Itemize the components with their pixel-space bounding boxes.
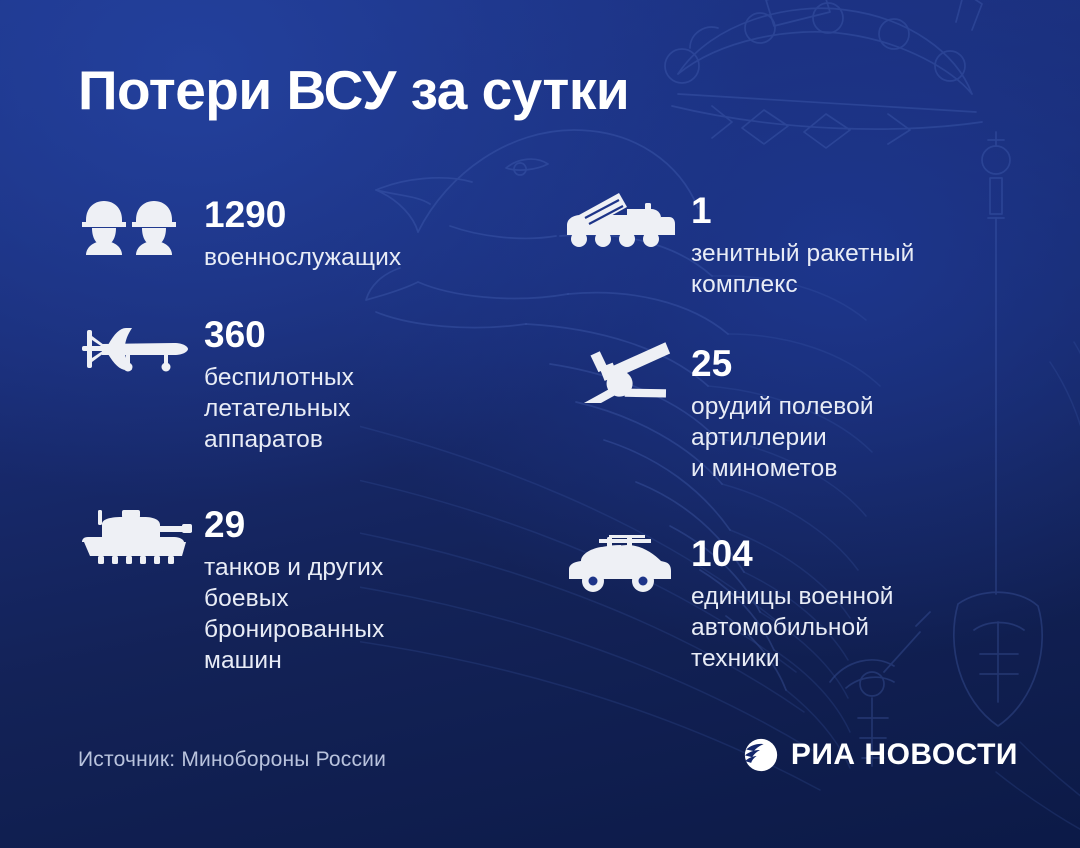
stat-value: 29 [204,506,528,543]
stat-item-drones: 360 беспилотных летательных аппаратов [78,316,528,455]
stat-label: военнослужащих [204,242,528,273]
stat-label: единицы военной автомобильной техники [691,581,1005,674]
stat-value: 1290 [204,196,528,233]
stat-item-tanks: 29 танков и других боевых бронированных … [78,506,528,676]
two-soldiers-icon [78,196,198,258]
ria-novosti-logo: РИА НОВОСТИ [744,738,1018,772]
ria-novosti-wordmark: РИА НОВОСТИ [791,740,1018,770]
stat-label: танков и других боевых бронированных маш… [204,552,528,676]
stat-item-sam-systems: 1 зенитный ракетный комплекс [565,192,1005,300]
stat-label: беспилотных летательных аппаратов [204,362,528,455]
source-attribution: Источник: Минобороны России [78,748,386,772]
stat-item-military-vehicles: 104 единицы военной автомобильной техник… [565,535,1005,674]
infographic-poster: Потери ВСУ за сутки [0,0,1080,848]
stat-item-personnel: 1290 военнослужащих [78,196,528,273]
stat-value: 104 [691,535,1005,572]
military-pickup-icon [565,533,685,595]
drone-icon [78,318,198,380]
sam-launcher-icon [565,190,685,252]
stat-value: 360 [204,316,528,353]
stat-value: 1 [691,192,1005,229]
tank-icon [78,506,198,568]
stat-label: зенитный ракетный комплекс [691,238,1005,300]
stat-item-artillery: 25 орудий полевой артиллерии и минометов [565,345,1005,484]
howitzer-icon [565,341,685,403]
ria-swirl-icon [744,738,778,772]
stat-label: орудий полевой артиллерии и минометов [691,391,1005,484]
page-title: Потери ВСУ за сутки [78,60,629,121]
stat-value: 25 [691,345,1005,382]
